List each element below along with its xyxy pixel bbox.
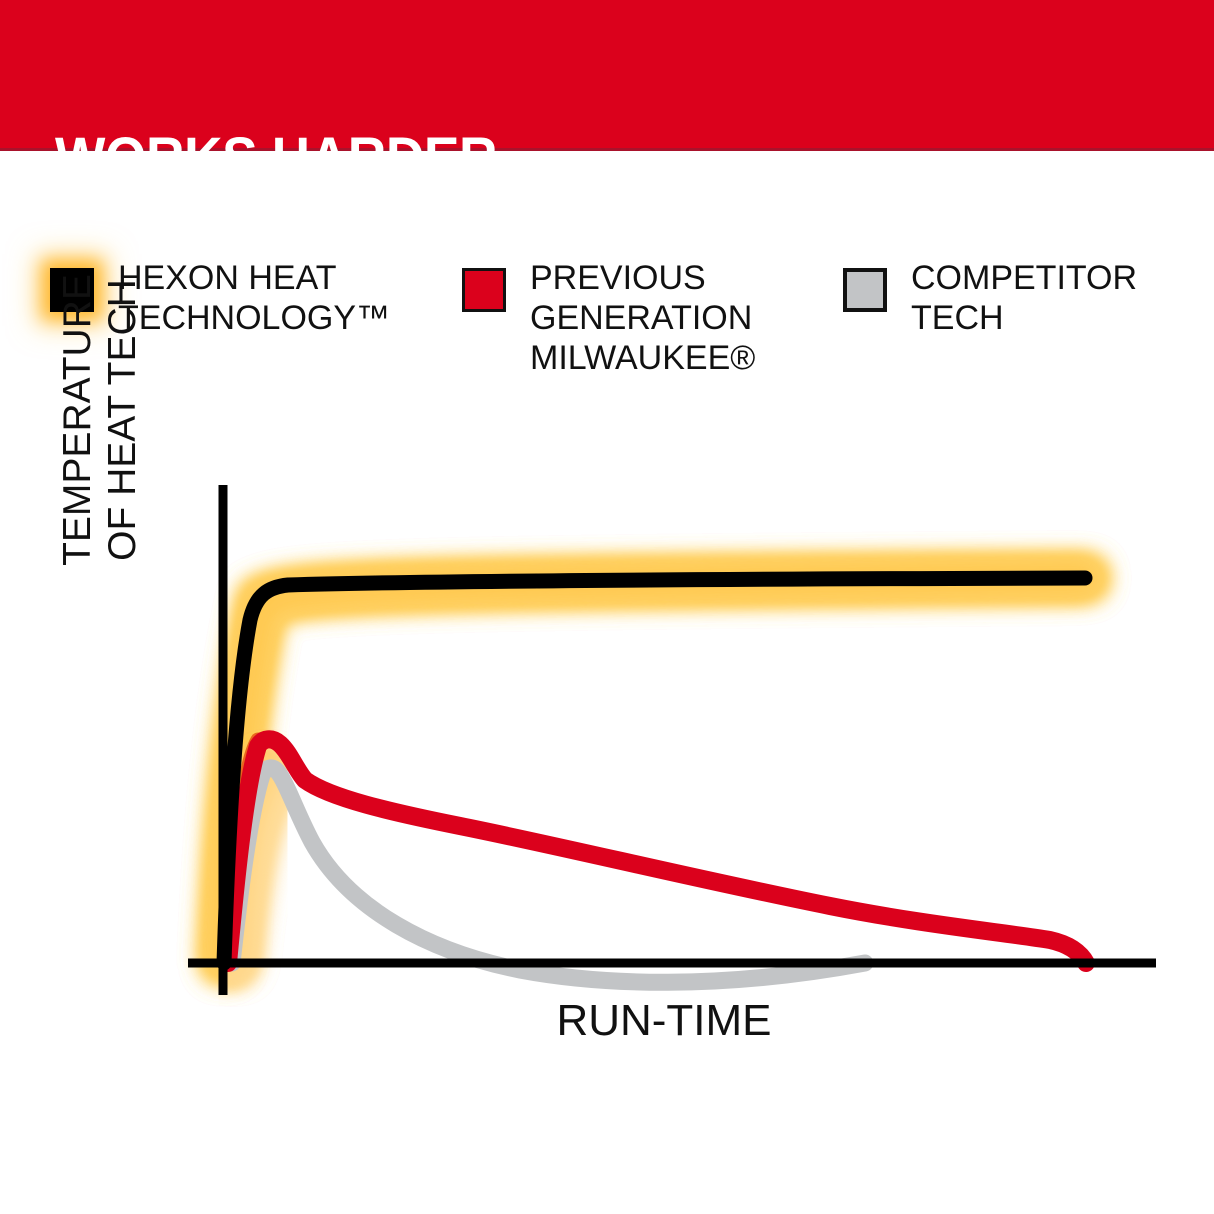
- legend-label-competitor-tech: COMPETITOR TECH: [911, 258, 1137, 338]
- y-axis-title: TEMPERATURE OF HEAT TECH: [0, 170, 200, 670]
- legend-swatch-gray-icon: [843, 268, 887, 312]
- x-axis-title: RUN-TIME: [224, 996, 1104, 1046]
- series-line-previous-generation: [228, 739, 1086, 963]
- legend-swatch-red-icon: [462, 268, 506, 312]
- legend-label-previous-generation-milwaukee: PREVIOUS GENERATION MILWAUKEE®: [530, 258, 755, 378]
- series-line-hexon-heat-technology: [224, 578, 1085, 963]
